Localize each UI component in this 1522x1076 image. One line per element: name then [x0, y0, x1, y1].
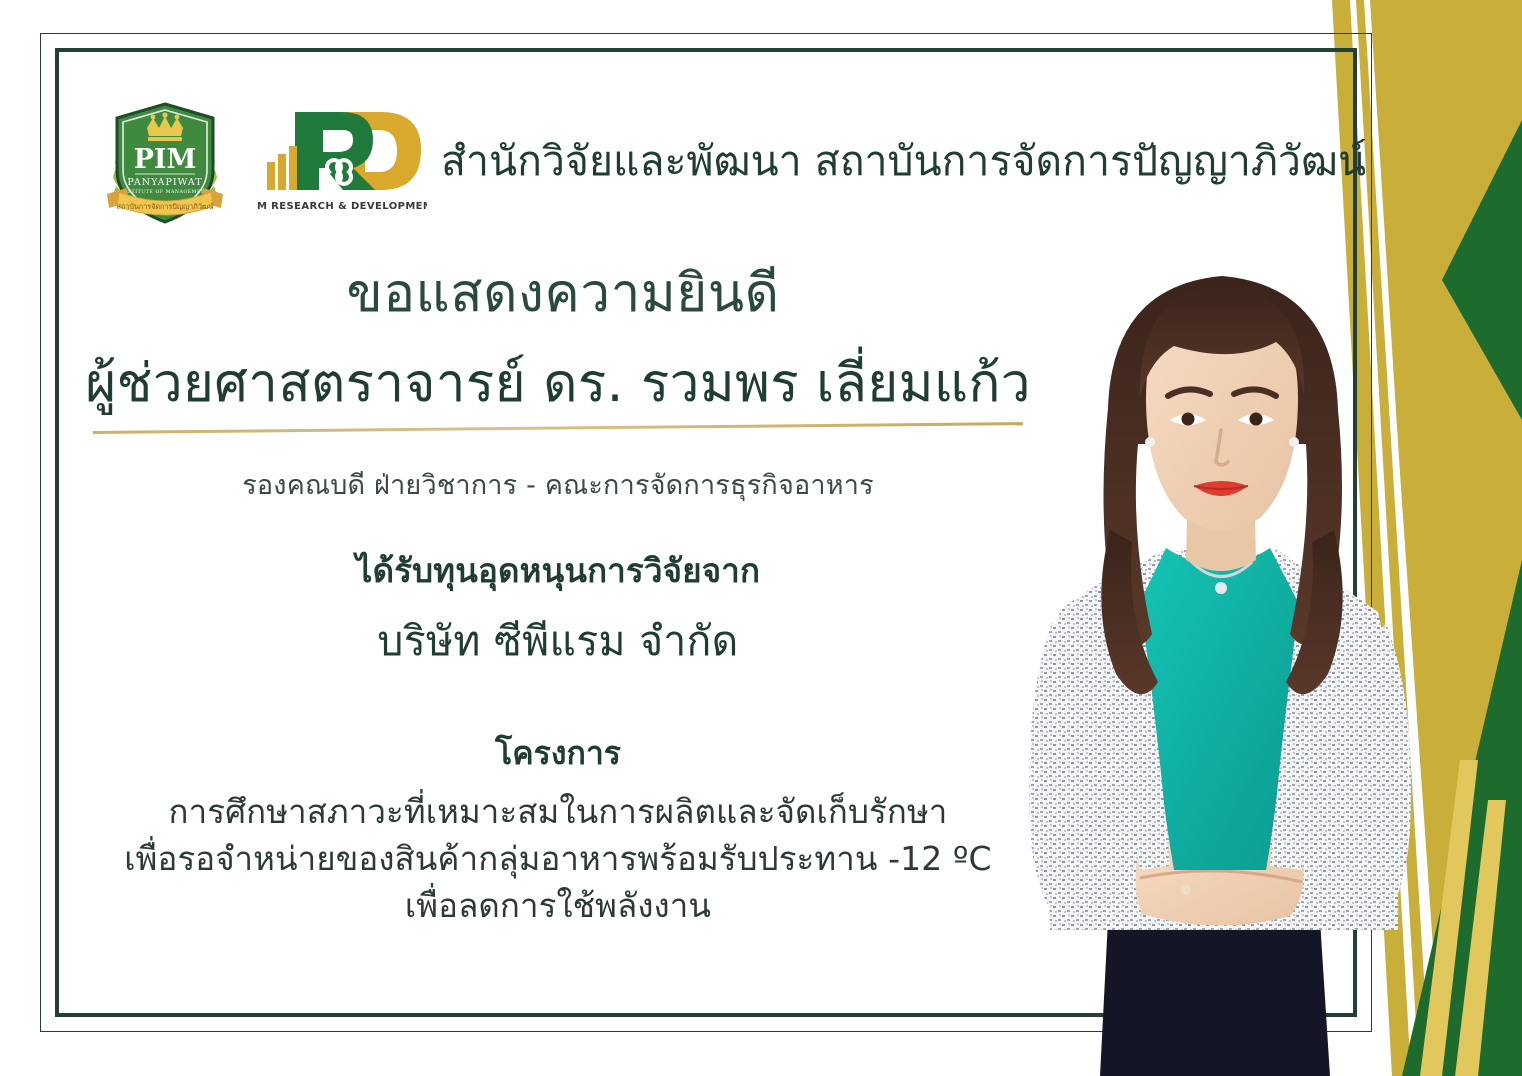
certificate-body: ขอแสดงความยินดี ผู้ช่วยศาสตราจารย์ ดร. ร…	[58, 262, 1058, 929]
pim-rd-logo: PIM RESEARCH & DEVELOPMENT	[257, 106, 427, 218]
portrait-trousers	[1100, 920, 1330, 1076]
grantor-name: บริษัท ซีพีแรม จำกัด	[58, 616, 1058, 667]
shield-line2: INSTITUTE OF MANAGEMENT	[121, 189, 210, 195]
organization-title: สำนักวิจัยและพัฒนา สถาบันการจัดการปัญญาภ…	[441, 139, 1366, 185]
svg-text:สถาบันการจัดการปัญญาภิวัฒน์: สถาบันการจัดการปัญญาภิวัฒน์	[117, 202, 214, 211]
honoree-position: รองคณบดี ฝ่ายวิชาการ - คณะการจัดการธุรกิ…	[58, 468, 1058, 503]
rd-bar-chart	[267, 146, 297, 190]
project-line: เพื่อรอจำหน่ายของสินค้ากลุ่มอาหารพร้อมรั…	[58, 836, 1058, 883]
shield-acronym: PIM	[134, 144, 197, 175]
portrait-earring-left	[1145, 437, 1155, 447]
project-line: การศึกษาสภาวะที่เหมาะสมในการผลิตและจัดเก…	[58, 789, 1058, 836]
project-title: การศึกษาสภาวะที่เหมาะสมในการผลิตและจัดเก…	[58, 789, 1058, 930]
gold-divider	[93, 422, 1023, 434]
pim-shield-logo: PIM PANYAPIWAT INSTITUTE OF MANAGEMENT ส…	[95, 92, 235, 232]
certificate-header: PIM PANYAPIWAT INSTITUTE OF MANAGEMENT ส…	[95, 92, 1385, 232]
certificate-canvas: PIM PANYAPIWAT INSTITUTE OF MANAGEMENT ส…	[0, 0, 1522, 1076]
honoree-portrait	[990, 230, 1460, 1076]
project-label: โครงการ	[58, 733, 1058, 773]
congratulations-heading: ขอแสดงความยินดี	[58, 262, 1058, 326]
portrait-earring-right	[1289, 437, 1299, 447]
grant-label: ได้รับทุนอุดหนุนการวิจัยจาก	[58, 550, 1058, 591]
shield-line1: PANYAPIWAT	[127, 177, 202, 188]
project-line: เพื่อลดการใช้พลังงาน	[58, 883, 1058, 930]
honoree-name: ผู้ช่วยศาสตราจารย์ ดร. รวมพร เลี่ยมแก้ว	[58, 352, 1058, 416]
rd-caption: PIM RESEARCH & DEVELOPMENT	[257, 201, 427, 212]
